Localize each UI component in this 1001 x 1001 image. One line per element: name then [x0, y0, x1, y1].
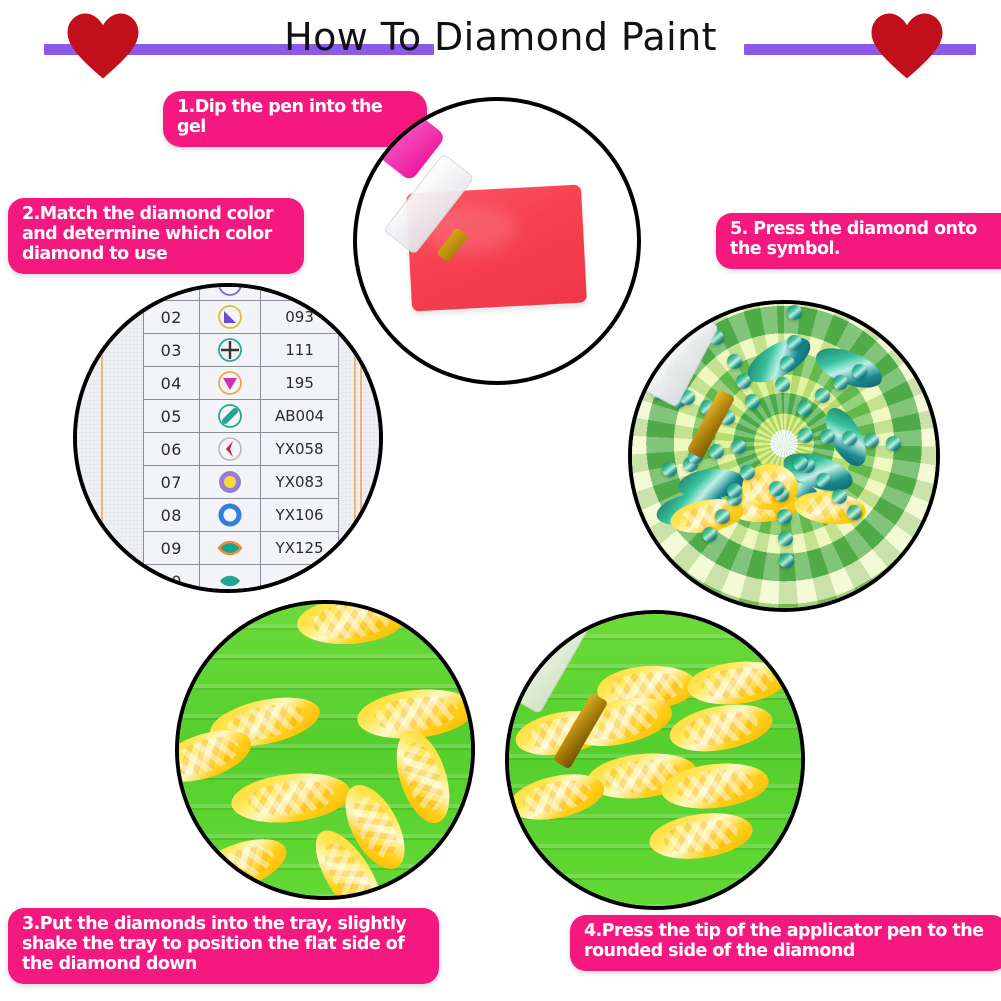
canvas-gem-round [842, 431, 857, 446]
chevron-left-symbol [217, 436, 243, 462]
table-row: 01028 [144, 283, 339, 301]
canvas-gem-round [775, 377, 790, 392]
canvas-gem-round [715, 509, 730, 524]
triangle-circle-symbol [217, 304, 243, 330]
table-row: 08YX106 [144, 499, 339, 532]
ring-symbol [217, 502, 243, 528]
plus-circle-symbol [217, 337, 243, 363]
photo-diamonds-in-tray [175, 600, 475, 900]
cell-number: 07 [144, 466, 200, 499]
leaf-symbol [217, 535, 243, 561]
cell-code: AB004 [261, 400, 339, 433]
cell-number: 08 [144, 499, 200, 532]
color-symbol-table: 0102802093031110419505AB00406YX05807YX08… [143, 283, 339, 593]
canvas-gem-round [727, 483, 742, 498]
canvas-gem-round [787, 335, 802, 350]
table-row: 02093 [144, 301, 339, 334]
slash-oval-symbol [217, 403, 243, 429]
cell-code: 028 [261, 283, 339, 301]
cell-code: YX125 [261, 532, 339, 565]
photo-color-chart: 0102802093031110419505AB00406YX05807YX08… [73, 283, 383, 593]
canvas-gem-round [736, 374, 751, 389]
cell-symbol [199, 466, 261, 499]
cell-symbol [199, 334, 261, 367]
page-header: How To Diamond Paint [0, 0, 1001, 92]
double-dot-circle-symbol [217, 283, 243, 297]
cell-number: 09 [144, 532, 200, 565]
cell-code: YX058 [261, 433, 339, 466]
canvas-gem-round [820, 429, 835, 444]
cell-code [261, 565, 339, 594]
photo-pen-picks-diamond [505, 610, 805, 910]
cell-symbol [199, 499, 261, 532]
canvas-gem-round [702, 527, 717, 542]
canvas-gem-round [847, 505, 862, 520]
margin-line-right [354, 287, 356, 589]
canvas-gem-round [731, 439, 746, 454]
canvas-gem-round [815, 388, 830, 403]
cell-code: 195 [261, 367, 339, 400]
canvas-gem-round [793, 456, 808, 471]
cell-symbol [199, 565, 261, 594]
table-row: 03111 [144, 334, 339, 367]
cell-symbol [199, 301, 261, 334]
canvas-gem-round [886, 436, 901, 451]
photo-press-onto-symbol [628, 300, 940, 612]
step-label-4: 4.Press the tip of the applicator pen to… [570, 915, 1001, 971]
page-title: How To Diamond Paint [0, 15, 1001, 59]
cell-symbol [199, 433, 261, 466]
table-row: 04195 [144, 367, 339, 400]
cell-number: 03 [144, 334, 200, 367]
cell-symbol [199, 367, 261, 400]
canvas-gem-round [780, 356, 795, 371]
step-label-2: 2.Match the diamond color and determine … [8, 198, 304, 274]
cell-number: 10 [144, 565, 200, 594]
margin-line-left [101, 287, 103, 589]
cell-code: 111 [261, 334, 339, 367]
table-row: 05AB004 [144, 400, 339, 433]
cell-symbol [199, 283, 261, 301]
cell-symbol [199, 400, 261, 433]
step-label-3: 3.Put the diamonds into the tray, slight… [8, 908, 439, 984]
table-row: 09YX125 [144, 532, 339, 565]
teal-leaf-symbol [217, 568, 243, 593]
cell-number: 05 [144, 400, 200, 433]
canvas-gem-round [832, 489, 847, 504]
dot-ring-symbol [217, 469, 243, 495]
cell-code: YX083 [261, 466, 339, 499]
cell-code: YX106 [261, 499, 339, 532]
canvas-gem-round [740, 465, 755, 480]
triangle-fill-symbol [217, 370, 243, 396]
margin-line-right-2 [360, 287, 362, 589]
canvas-gem-round [852, 364, 867, 379]
canvas-gem-round [727, 354, 742, 369]
cell-number: 06 [144, 433, 200, 466]
cell-number: 04 [144, 367, 200, 400]
cell-number: 01 [144, 283, 200, 301]
table-row: 06YX058 [144, 433, 339, 466]
cell-symbol [199, 532, 261, 565]
cell-code: 093 [261, 301, 339, 334]
canvas-gem-round [798, 428, 813, 443]
cell-number: 02 [144, 301, 200, 334]
table-row: 10 [144, 565, 339, 594]
photo-dip-pen-in-gel [353, 97, 641, 385]
canvas-gem-round [777, 509, 792, 524]
step-label-5: 5. Press the diamond onto the symbol. [716, 213, 1001, 269]
table-row: 07YX083 [144, 466, 339, 499]
canvas-gem-round [864, 433, 879, 448]
